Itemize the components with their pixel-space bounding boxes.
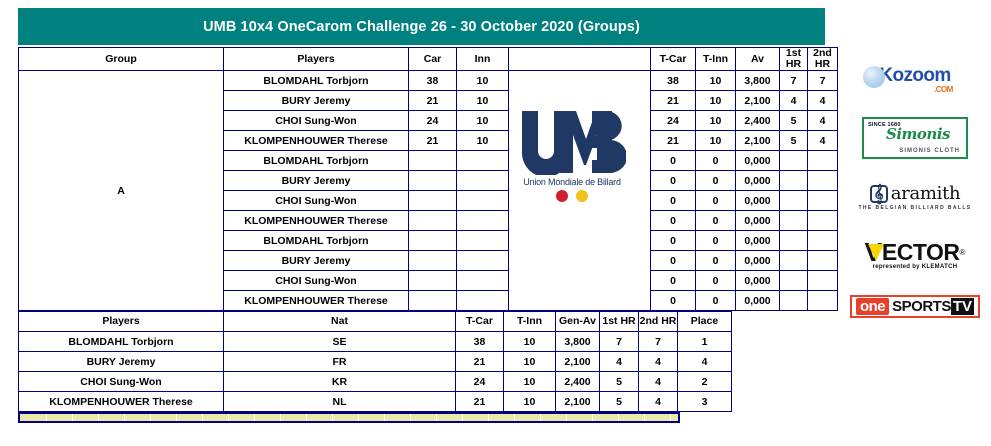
strip-tick [72, 414, 73, 421]
cell-1st-hr [780, 171, 808, 191]
strip-tick [410, 414, 411, 421]
cell-1st-hr [780, 231, 808, 251]
cell-tinn: 0 [696, 271, 736, 291]
cell-car [409, 251, 457, 271]
cell-player: BURY Jeremy [224, 171, 409, 191]
cell-player: KLOMPENHOUWER Therese [224, 211, 409, 231]
cell-player: BLOMDAHL Torbjorn [224, 151, 409, 171]
col-header-inn: Inn [457, 48, 509, 71]
strip-tick [46, 414, 47, 421]
cell-1st-hr [780, 291, 808, 311]
tv-word: TV [951, 298, 974, 315]
sponsor-simonis-logo[interactable]: SINCE 1680 Simonis SIMONIS CLOTH [845, 118, 985, 158]
cell-tinn: 0 [696, 211, 736, 231]
cell-tinn: 0 [696, 291, 736, 311]
sum-cell-gen-av: 3,800 [556, 332, 600, 352]
one-word: one [856, 298, 889, 315]
cell-2nd-hr [808, 211, 838, 231]
strip-tick [254, 414, 255, 421]
yellow-ball-icon [576, 190, 588, 202]
cell-1st-hr [780, 151, 808, 171]
cell-2nd-hr: 4 [808, 111, 838, 131]
sum-cell-tcar: 21 [456, 392, 504, 412]
cell-1st-hr: 4 [780, 91, 808, 111]
cell-car: 38 [409, 71, 457, 91]
cell-tcar: 0 [651, 151, 696, 171]
table-row: BURY JeremyFR21102,100444 [19, 352, 732, 372]
cell-av: 0,000 [736, 171, 780, 191]
umb-wordmark-icon [518, 109, 626, 175]
cell-av: 0,000 [736, 291, 780, 311]
cell-inn [457, 291, 509, 311]
sum-cell-1st-hr: 4 [600, 352, 639, 372]
sum-cell-place: 2 [678, 372, 732, 392]
simonis-sub-text: SIMONIS CLOTH [899, 148, 960, 154]
strip-tick [540, 414, 541, 421]
col-header-2nd-hr: 2nd HR [808, 48, 838, 71]
cell-inn: 10 [457, 111, 509, 131]
cell-tinn: 10 [696, 91, 736, 111]
cell-player: BURY Jeremy [224, 251, 409, 271]
strip-tick [644, 414, 645, 421]
cell-2nd-hr: 4 [808, 91, 838, 111]
sum-cell-1st-hr: 5 [600, 372, 639, 392]
sum-cell-nat: SE [224, 332, 456, 352]
sum-cell-1st-hr: 5 [600, 392, 639, 412]
cell-player: CHOI Sung-Won [224, 111, 409, 131]
cell-1st-hr [780, 191, 808, 211]
cell-car [409, 191, 457, 211]
cell-inn [457, 251, 509, 271]
cell-av: 2,100 [736, 91, 780, 111]
sum-cell-gen-av: 2,100 [556, 352, 600, 372]
cell-1st-hr: 5 [780, 111, 808, 131]
cell-tcar: 0 [651, 231, 696, 251]
table-row: ABLOMDAHL Torbjorn381038103,80077 [19, 71, 838, 91]
sum-col-header-tcar: T-Car [456, 312, 504, 332]
col-header-car: Car [409, 48, 457, 71]
cell-1st-hr [780, 211, 808, 231]
col-header-tinn: T-Inn [696, 48, 736, 71]
sum-cell-nat: KR [224, 372, 456, 392]
aramith-wordmark: aramith [891, 183, 961, 204]
vector-wordmark: ECTOR [882, 239, 960, 266]
cell-tinn: 0 [696, 151, 736, 171]
cell-car [409, 211, 457, 231]
strip-tick [618, 414, 619, 421]
sum-col-header-gen-av: Gen-Av [556, 312, 600, 332]
strip-tick [202, 414, 203, 421]
sponsor-panel: Kozoom .COM SINCE 1680 Simonis SIMONIS C… [845, 58, 985, 318]
strip-tick [150, 414, 151, 421]
cell-car [409, 231, 457, 251]
sum-cell-nat: FR [224, 352, 456, 372]
sum-cell-2nd-hr: 4 [639, 392, 678, 412]
cell-tinn: 0 [696, 251, 736, 271]
cell-1st-hr [780, 251, 808, 271]
sum-cell-tinn: 10 [504, 352, 556, 372]
sum-cell-tinn: 10 [504, 372, 556, 392]
cell-tcar: 0 [651, 291, 696, 311]
cell-car [409, 171, 457, 191]
cell-player: BURY Jeremy [224, 91, 409, 111]
sum-col-header-place: Place [678, 312, 732, 332]
cell-2nd-hr [808, 291, 838, 311]
sum-cell-tcar: 24 [456, 372, 504, 392]
sports-word: SPORTS [892, 298, 951, 315]
sum-cell-tcar: 38 [456, 332, 504, 352]
col-header-logo-spacer [509, 48, 651, 71]
strip-tick [670, 414, 671, 421]
cell-inn: 10 [457, 91, 509, 111]
cell-av: 0,000 [736, 151, 780, 171]
cell-inn [457, 231, 509, 251]
page-title: UMB 10x4 OneCarom Challenge 26 - 30 Octo… [18, 8, 825, 45]
sponsor-kozoom-logo[interactable]: Kozoom .COM [845, 58, 985, 94]
strip-tick [514, 414, 515, 421]
sum-cell-player: CHOI Sung-Won [19, 372, 224, 392]
table-row: CHOI Sung-WonKR24102,400542 [19, 372, 732, 392]
cell-tcar: 21 [651, 91, 696, 111]
table-row: BLOMDAHL TorbjornSE38103,800771 [19, 332, 732, 352]
cell-tcar: 24 [651, 111, 696, 131]
simonis-wordmark: Simonis [886, 125, 950, 143]
cell-inn [457, 271, 509, 291]
cell-tcar: 0 [651, 271, 696, 291]
strip-tick [462, 414, 463, 421]
sponsor-onesportstv-logo[interactable]: one SPORTS TV [845, 292, 985, 320]
sum-cell-tinn: 10 [504, 392, 556, 412]
cell-2nd-hr: 4 [808, 131, 838, 151]
registered-mark-icon: ® [960, 248, 966, 257]
sum-cell-player: BURY Jeremy [19, 352, 224, 372]
strip-tick [280, 414, 281, 421]
cell-tinn: 10 [696, 71, 736, 91]
cell-tinn: 0 [696, 191, 736, 211]
sponsor-aramith-logo[interactable]: 𝄞 aramith THE BELGIAN BILLIARD BALLS [845, 180, 985, 214]
summary-header-row: Players Nat T-Car T-Inn Gen-Av 1st HR 2n… [19, 312, 732, 332]
strip-tick [358, 414, 359, 421]
sum-cell-2nd-hr: 4 [639, 352, 678, 372]
cell-av: 0,000 [736, 231, 780, 251]
sum-col-header-1st-hr: 1st HR [600, 312, 639, 332]
cell-tcar: 21 [651, 131, 696, 151]
footer-strip [18, 412, 680, 423]
umb-tagline: Union Mondiale de Billard [523, 177, 621, 187]
cell-tcar: 0 [651, 171, 696, 191]
aramith-mark-icon: 𝄞 [870, 185, 888, 203]
cell-tinn: 0 [696, 231, 736, 251]
cell-1st-hr [780, 271, 808, 291]
sum-cell-tcar: 21 [456, 352, 504, 372]
cell-2nd-hr [808, 151, 838, 171]
strip-tick [488, 414, 489, 421]
strip-tick [228, 414, 229, 421]
cell-car [409, 291, 457, 311]
cell-tcar: 38 [651, 71, 696, 91]
sum-cell-gen-av: 2,400 [556, 372, 600, 392]
cell-tinn: 10 [696, 111, 736, 131]
sum-cell-nat: NL [224, 392, 456, 412]
cell-inn [457, 151, 509, 171]
umb-logo: Union Mondiale de Billard [508, 96, 636, 214]
strip-tick [384, 414, 385, 421]
col-header-players: Players [224, 48, 409, 71]
cell-player: KLOMPENHOUWER Therese [224, 291, 409, 311]
kozoom-com-suffix: .COM [934, 85, 953, 94]
cell-player: BLOMDAHL Torbjorn [224, 71, 409, 91]
cell-2nd-hr [808, 171, 838, 191]
kozoom-wordmark: Kozoom .COM [879, 65, 950, 87]
sum-col-header-players: Players [19, 312, 224, 332]
scoreboard-page: UMB 10x4 OneCarom Challenge 26 - 30 Octo… [0, 0, 991, 446]
strip-tick [332, 414, 333, 421]
col-header-av: Av [736, 48, 780, 71]
cell-av: 0,000 [736, 191, 780, 211]
vector-v-icon: V [865, 240, 882, 264]
red-ball-icon [556, 190, 568, 202]
strip-tick [566, 414, 567, 421]
cell-tinn: 10 [696, 131, 736, 151]
cell-car: 24 [409, 111, 457, 131]
cell-av: 0,000 [736, 211, 780, 231]
cell-inn [457, 171, 509, 191]
cell-2nd-hr [808, 251, 838, 271]
cell-2nd-hr: 7 [808, 71, 838, 91]
strip-tick [306, 414, 307, 421]
cell-car: 21 [409, 91, 457, 111]
cell-av: 2,100 [736, 131, 780, 151]
cell-tcar: 0 [651, 251, 696, 271]
cell-player: CHOI Sung-Won [224, 271, 409, 291]
cell-2nd-hr [808, 191, 838, 211]
strip-tick [124, 414, 125, 421]
cell-car [409, 151, 457, 171]
group-label-cell: A [19, 71, 224, 311]
cell-2nd-hr [808, 231, 838, 251]
final-standings-table: Players Nat T-Car T-Inn Gen-Av 1st HR 2n… [18, 311, 732, 412]
cell-tinn: 0 [696, 171, 736, 191]
sum-cell-player: BLOMDAHL Torbjorn [19, 332, 224, 352]
sum-cell-1st-hr: 7 [600, 332, 639, 352]
sum-cell-player: KLOMPENHOUWER Therese [19, 392, 224, 412]
cell-av: 2,400 [736, 111, 780, 131]
main-header-row: Group Players Car Inn T-Car T-Inn Av 1st… [19, 48, 838, 71]
cell-inn: 10 [457, 131, 509, 151]
col-header-1st-hr: 1st HR [780, 48, 808, 71]
cell-av: 3,800 [736, 71, 780, 91]
sum-col-header-tinn: T-Inn [504, 312, 556, 332]
cell-2nd-hr [808, 271, 838, 291]
cell-player: BLOMDAHL Torbjorn [224, 231, 409, 251]
strip-tick [176, 414, 177, 421]
cell-1st-hr: 7 [780, 71, 808, 91]
cell-tcar: 0 [651, 211, 696, 231]
sum-cell-place: 3 [678, 392, 732, 412]
sum-cell-tinn: 10 [504, 332, 556, 352]
cell-player: CHOI Sung-Won [224, 191, 409, 211]
sum-cell-place: 4 [678, 352, 732, 372]
vector-sub-text: represented by KLEMATCH [873, 264, 958, 270]
col-header-tcar: T-Car [651, 48, 696, 71]
sum-cell-2nd-hr: 4 [639, 372, 678, 392]
sum-cell-place: 1 [678, 332, 732, 352]
strip-tick [98, 414, 99, 421]
group-results-table: Group Players Car Inn T-Car T-Inn Av 1st… [18, 47, 838, 311]
cell-inn [457, 191, 509, 211]
cell-car: 21 [409, 131, 457, 151]
sponsor-vector-logo[interactable]: V ECTOR® represented by KLEMATCH [845, 236, 985, 272]
cell-player: KLOMPENHOUWER Therese [224, 131, 409, 151]
sum-cell-2nd-hr: 7 [639, 332, 678, 352]
strip-tick [436, 414, 437, 421]
cell-inn [457, 211, 509, 231]
cell-inn: 10 [457, 71, 509, 91]
sum-cell-gen-av: 2,100 [556, 392, 600, 412]
sum-col-header-2nd-hr: 2nd HR [639, 312, 678, 332]
cell-av: 0,000 [736, 271, 780, 291]
umb-ball-dots [556, 190, 588, 202]
cell-tcar: 0 [651, 191, 696, 211]
sum-col-header-nat: Nat [224, 312, 456, 332]
col-header-group: Group [19, 48, 224, 71]
cell-av: 0,000 [736, 251, 780, 271]
aramith-sub-text: THE BELGIAN BILLIARD BALLS [858, 205, 971, 211]
strip-tick [592, 414, 593, 421]
table-row: KLOMPENHOUWER ThereseNL21102,100543 [19, 392, 732, 412]
cell-1st-hr: 5 [780, 131, 808, 151]
cell-car [409, 271, 457, 291]
